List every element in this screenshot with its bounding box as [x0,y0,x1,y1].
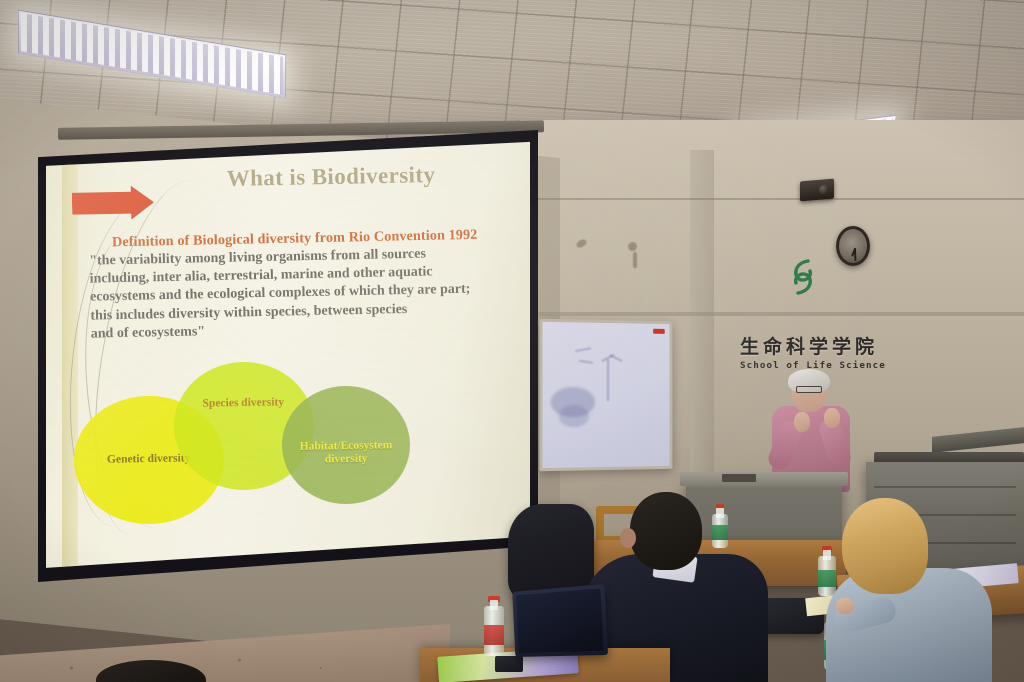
speaker-cone [819,184,829,195]
glasses-icon [796,386,822,393]
whiteboard-stroke [609,354,622,362]
whiteboard-stroke [607,359,609,401]
attendee-man-head [630,492,702,570]
wall-trim-line [520,312,1024,316]
whiteboard-stroke [575,347,591,352]
wall-clock-icon [836,226,870,266]
slide-title: What is Biodiversity [166,161,496,193]
dark-object-on-desk[interactable] [495,656,523,672]
lecture-hall-photo: 生命科学学院 School of Life Science What is Bi… [0,0,1024,682]
floor-speckle [70,666,73,669]
venn-label-habitat: Habitat/Ecosystem diversity [282,439,410,468]
red-marker-icon[interactable] [653,329,665,334]
floor-speckle [320,667,322,669]
podium-surface [680,472,848,486]
presenter-hand-left [794,412,810,432]
venn-label-genetic: Genetic diversity [107,453,191,468]
slide-surface: What is Biodiversity Definition of Biolo… [46,138,530,574]
slide-body-text: "the variability among living organisms … [89,243,530,343]
sign-chinese-text: 生命科学学院 [740,332,880,359]
venn-label-species: Species diversity [203,397,285,412]
floor-speckle [238,659,241,662]
podium-tray [722,474,756,482]
attendee-woman-hair [842,498,928,594]
attendee-woman-hand [836,598,854,614]
laptop-screen [516,588,604,653]
projection-screen: What is Biodiversity Definition of Biolo… [38,130,538,582]
wall-speaker-icon [800,179,834,202]
presenter-hand-right [824,408,840,428]
cabinet-panel-line [874,486,1016,488]
wall-scuff [628,242,637,251]
whiteboard-smudge [559,405,589,427]
attendee-woman [826,498,994,682]
water-bottle-front[interactable] [484,596,504,656]
open-laptop[interactable] [512,584,608,657]
venn-circle-habitat: Habitat/Ecosystem diversity [282,386,410,504]
school-logo-icon [786,258,820,296]
whiteboard-stroke [579,360,593,364]
wall-scuff [633,252,637,268]
bottle-label [484,625,504,645]
wall-seam [520,198,1024,200]
attendee-man-ear [620,528,636,548]
whiteboard[interactable] [539,319,672,471]
